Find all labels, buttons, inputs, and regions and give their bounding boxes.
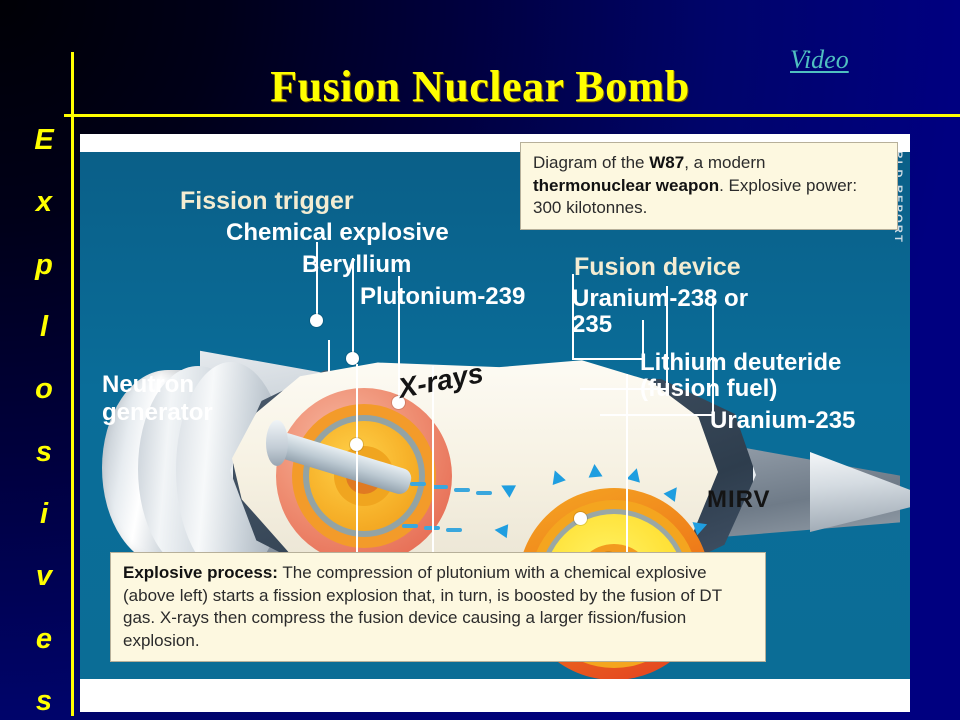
- sidebar-vertical-word: E x p l o s i v e s: [22, 126, 66, 716]
- video-link[interactable]: Video: [790, 46, 849, 74]
- top-caption-w87: W87: [649, 153, 684, 172]
- leader-dot: [574, 512, 587, 525]
- label-neutron-generator-line2: generator: [102, 400, 213, 425]
- top-caption-box: Diagram of the W87, a modern thermonucle…: [520, 142, 898, 230]
- bottom-caption-box: Explosive process: The compression of pl…: [110, 552, 766, 662]
- sidebar-letter: e: [36, 625, 52, 654]
- label-uranium-238-or-235-line2: 235: [572, 312, 612, 337]
- label-plutonium-239: Plutonium-239: [360, 284, 525, 309]
- label-uranium-235: Uranium-235: [710, 408, 855, 433]
- figure-bottom-margin: [80, 679, 910, 712]
- page-title: Fusion Nuclear Bomb: [180, 62, 780, 114]
- leader-line: [572, 358, 644, 360]
- sidebar-letter: i: [40, 500, 48, 529]
- neutron-generator-cap: [266, 420, 288, 466]
- label-uranium-238-or-235-line1: Uranium-238 or: [572, 286, 748, 311]
- label-mirv: MIRV: [707, 487, 771, 512]
- label-lithium-deuteride-line1: Lithium deuteride: [640, 350, 841, 375]
- title-underline-rule: [64, 114, 960, 117]
- top-caption-thermonuclear: thermonuclear weapon: [533, 176, 719, 195]
- label-lithium-deuteride-line2: (fusion fuel): [640, 376, 777, 401]
- label-fusion-device: Fusion device: [574, 254, 741, 280]
- sidebar-letter: l: [40, 313, 48, 342]
- xray-dash: [402, 524, 418, 528]
- sidebar-letter: o: [35, 375, 53, 404]
- label-chemical-explosive: Chemical explosive: [226, 220, 449, 245]
- label-fission-trigger: Fission trigger: [180, 188, 354, 214]
- bottom-caption-lead: Explosive process:: [123, 563, 278, 582]
- leader-dot: [310, 314, 323, 327]
- xray-dash: [454, 488, 470, 492]
- leader-dot: [346, 352, 359, 365]
- xray-dash: [410, 482, 426, 486]
- xray-dash: [476, 491, 492, 495]
- top-caption-line1-post: , a modern: [684, 153, 765, 172]
- label-beryllium: Beryllium: [302, 252, 411, 277]
- sidebar-letter: E: [34, 126, 53, 155]
- sidebar-letter: x: [36, 188, 52, 217]
- xray-arrow-icon: [587, 463, 602, 477]
- sidebar-letter: s: [36, 438, 52, 467]
- xray-dash: [446, 528, 462, 532]
- sidebar-letter: s: [36, 687, 52, 716]
- xray-arrow-icon: [494, 523, 508, 538]
- top-caption-line1-pre: Diagram of the: [533, 153, 649, 172]
- label-neutron-generator-line1: Neutron: [102, 372, 194, 397]
- sidebar-letter: p: [35, 251, 53, 280]
- leader-line: [328, 340, 330, 372]
- xray-dash: [432, 485, 448, 489]
- leader-dot: [350, 438, 363, 451]
- leader-line: [600, 414, 714, 416]
- nuclear-bomb-diagram-image: Fission trigger Chemical explosive Beryl…: [80, 134, 910, 712]
- sidebar-divider-rule: [71, 52, 74, 716]
- slide-canvas: Fusion Nuclear Bomb Video E x p l o s i …: [0, 0, 960, 720]
- sidebar-letter: v: [36, 562, 52, 591]
